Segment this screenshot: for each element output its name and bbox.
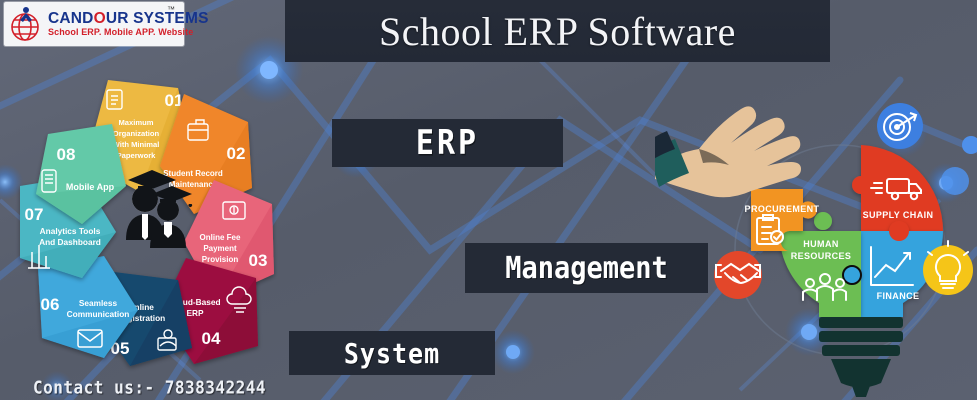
network-node-dot <box>962 136 977 154</box>
trademark-symbol: ™ <box>167 5 175 14</box>
puzzle-label-finance: FINANCE <box>877 291 920 301</box>
company-logo[interactable]: CANDOUR SYSTEMS School ERP. Mobile APP. … <box>4 2 184 46</box>
hand-placing-puzzle-icon <box>655 106 801 197</box>
management-label: Management <box>505 251 668 286</box>
page-title: School ERP Software <box>379 8 736 55</box>
logo-tagline: School ERP. Mobile APP. Website <box>48 28 209 37</box>
erp-label: ERP <box>416 123 479 162</box>
svg-text:HUMAN: HUMAN <box>803 239 839 249</box>
badge-handshake[interactable] <box>714 251 762 299</box>
bulb-base <box>819 317 903 397</box>
system-band: System <box>289 331 495 375</box>
title-band: School ERP Software <box>285 0 830 62</box>
badge-target-arrow[interactable] <box>877 103 923 149</box>
svg-text:RESOURCES: RESOURCES <box>791 251 852 261</box>
globe-person-logo-icon <box>6 4 46 44</box>
puzzle-label-supply-chain: SUPPLY CHAIN <box>863 210 934 220</box>
erp-band: ERP <box>332 119 563 167</box>
system-label: System <box>344 337 440 369</box>
banner-root: CANDOUR SYSTEMS School ERP. Mobile APP. … <box>0 0 977 400</box>
contact-text: Contact us:- 7838342244 <box>33 377 266 398</box>
puzzle-label-procurement: PROCUREMENT <box>745 204 820 214</box>
logo-company-name: CANDOUR SYSTEMS <box>48 11 209 27</box>
puzzle-piece-supply-chain[interactable]: SUPPLY CHAIN <box>852 145 943 231</box>
network-node-dot-2 <box>941 167 969 195</box>
lightbulb-puzzle-graphic: SUPPLY CHAIN FINANCE HUMAN RESOURCES <box>655 85 977 400</box>
erp-features-wheel: 01 Maximum Organization With Minimal Pap… <box>8 62 288 372</box>
